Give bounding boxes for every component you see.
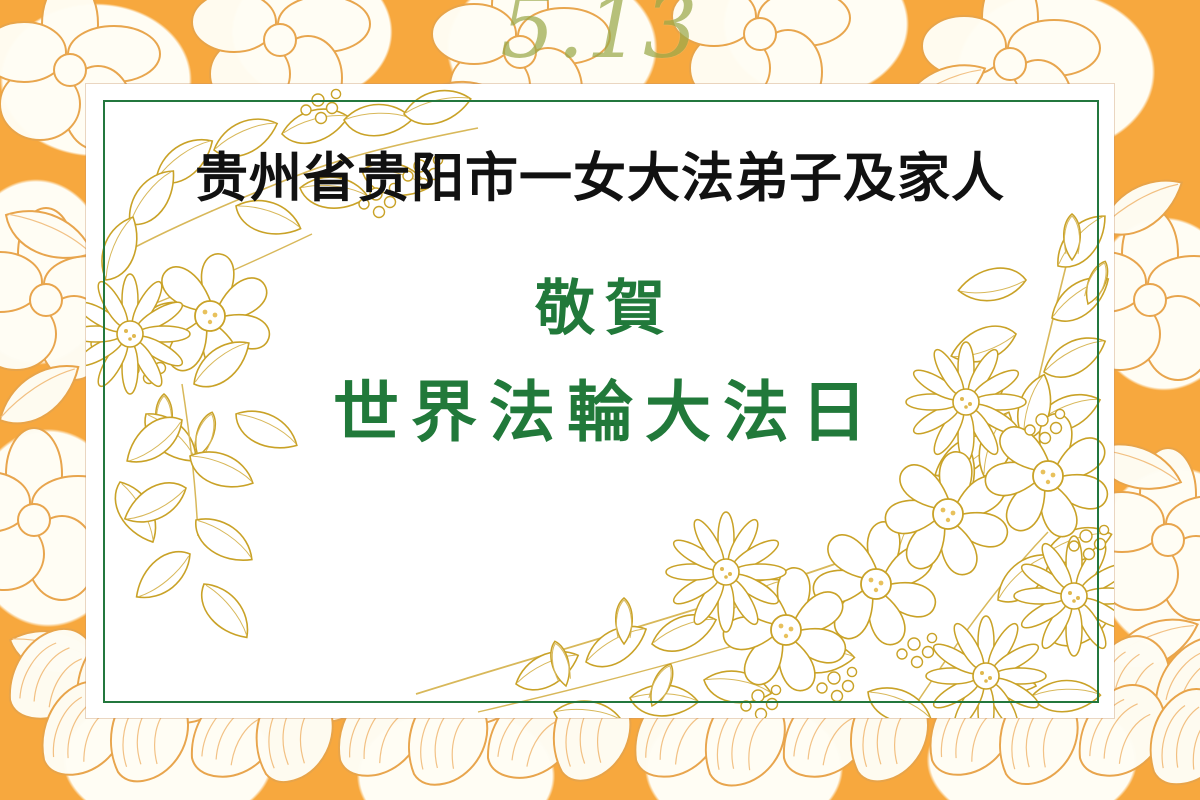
greeting-word-line: 敬賀	[86, 260, 1114, 347]
certificate-card: 贵州省贵阳市一女大法弟子及家人 敬賀 世界法輪大法日	[86, 84, 1114, 718]
occasion-line: 世界法輪大法日	[86, 359, 1114, 455]
sender-title-line: 贵州省贵阳市一女大法弟子及家人	[86, 136, 1114, 212]
greeting-poster: 5.13	[0, 0, 1200, 800]
greeting-text-block: 贵州省贵阳市一女大法弟子及家人 敬賀 世界法輪大法日	[86, 84, 1114, 718]
